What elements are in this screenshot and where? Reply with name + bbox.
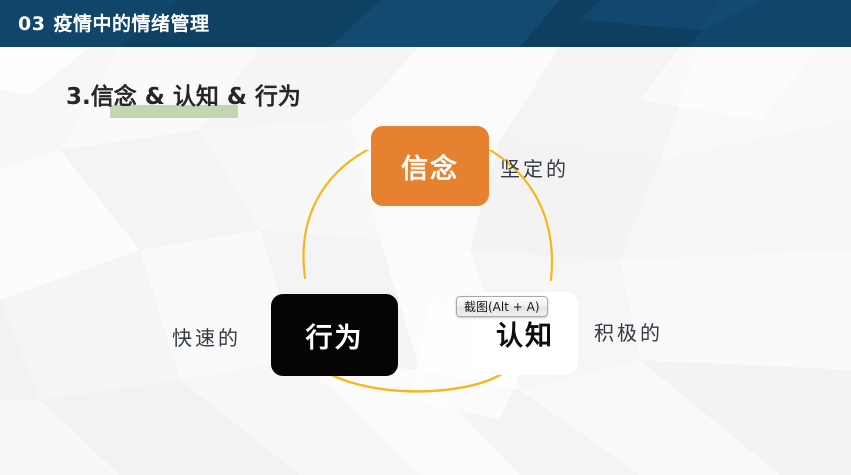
screenshot-shortcut-tooltip: 截图(Alt + A) <box>456 296 548 317</box>
presentation-slide: 03疫情中的情绪管理 3.信念 & 认知 & 行为 信念 行为 认知 坚定的 积… <box>0 0 851 475</box>
annotation-firm: 坚定的 <box>500 153 569 182</box>
diagram-node-cognition-label: 认知 <box>496 314 554 353</box>
subtitle-block: 3.信念 & 认知 & 行为 <box>66 82 301 116</box>
header-section-number: 03 <box>18 13 45 35</box>
diagram-node-behavior[interactable]: 行为 <box>271 294 398 376</box>
screenshot-shortcut-tooltip-label: 截图(Alt + A) <box>464 301 540 313</box>
diagram-node-behavior-label: 行为 <box>306 316 364 355</box>
annotation-active: 积极的 <box>594 317 663 346</box>
subtitle-text: 3.信念 & 认知 & 行为 <box>66 82 301 112</box>
diagram-node-belief-label: 信念 <box>401 147 459 186</box>
header-section-title: 疫情中的情绪管理 <box>53 13 209 35</box>
diagram-node-belief[interactable]: 信念 <box>371 126 489 206</box>
annotation-rapid: 快速的 <box>172 322 241 351</box>
slide-header-bar: 03疫情中的情绪管理 <box>0 0 851 47</box>
header-title: 03疫情中的情绪管理 <box>18 9 209 36</box>
